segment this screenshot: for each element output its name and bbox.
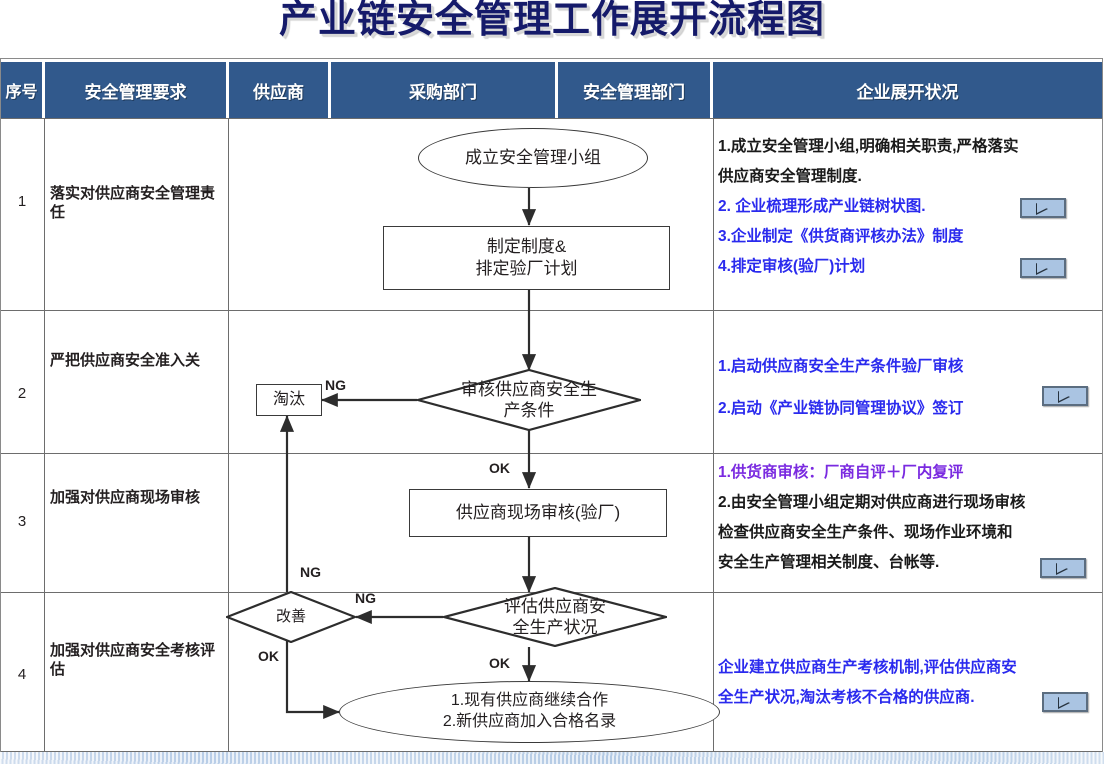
cell-seq-2: 2: [18, 385, 26, 402]
status-line: 2.由安全管理小组定期对供应商进行现场审核: [718, 488, 1100, 518]
cell-requirement-2: 严把供应商安全准入关: [50, 352, 222, 371]
cell-seq-1: 1: [18, 193, 26, 210]
flow-process-onsite-audit-label: 供应商现场审核(验厂): [456, 502, 620, 524]
status-line-text: 全生产状况,淘汰考核不合格的供应商.: [718, 689, 975, 706]
header-cell-supplier: 供应商: [229, 62, 330, 118]
edge-label-ok-1: OK: [489, 460, 510, 476]
row-divider-2: [1, 453, 1102, 454]
status-line: 3.企业制定《供货商评核办法》制度: [718, 222, 1100, 252]
table-row: 4: [0, 666, 44, 683]
play-button[interactable]: [1042, 386, 1088, 406]
status-line: 企业建立供应商生产考核机制,评估供应商安: [718, 653, 1100, 683]
flow-process-policy: 制定制度& 排定验厂计划: [383, 226, 670, 290]
header-label-supplier: 供应商: [253, 78, 304, 103]
header-cell-seq: 序号: [1, 62, 44, 118]
flow-process-policy-line2: 排定验厂计划: [476, 258, 578, 280]
status-line-text: 2.由安全管理小组定期对供应商进行现场审核: [718, 494, 1025, 511]
edge-label-ng-2: NG: [300, 564, 321, 580]
header-cell-status: 企业展开状况: [713, 62, 1102, 118]
status-line-text: 企业建立供应商生产考核机制,评估供应商安: [718, 659, 1017, 676]
edge-label-ok-3: OK: [489, 655, 510, 671]
flow-eliminate-box: 淘汰: [256, 384, 322, 416]
cell-seq-4: 4: [18, 666, 26, 683]
status-line-text: 1.成立安全管理小组,明确相关职责,严格落实: [718, 138, 1019, 155]
play-button[interactable]: [1020, 258, 1066, 278]
page-title: 产业链安全管理工作展开流程图: [0, 0, 1104, 44]
status-line-text: 2.启动《产业链协同管理协议》签订: [718, 400, 963, 417]
flow-end-oval-line1: 1.现有供应商继续合作: [451, 691, 608, 712]
edge-label-ok-2: OK: [258, 648, 279, 664]
status-line: 1.成立安全管理小组,明确相关职责,严格落实: [718, 132, 1100, 162]
cell-seq-3: 3: [18, 513, 26, 530]
footer-decorative-band: [0, 752, 1104, 764]
edge-label-ng-1: NG: [325, 377, 346, 393]
header-label-purchasing: 采购部门: [409, 78, 477, 103]
status-line-text: 3.企业制定《供货商评核办法》制度: [718, 228, 963, 245]
table-row: 1: [0, 193, 44, 210]
flow-start-oval-label: 成立安全管理小组: [465, 147, 601, 169]
status-line-text: 1.供货商审核：厂商自评＋厂内复评: [718, 464, 963, 481]
flow-decision-audit-conditions: 审核供应商安全生 产条件: [417, 369, 641, 431]
column-divider-seq: [44, 118, 45, 752]
flow-eliminate-box-label: 淘汰: [273, 390, 305, 411]
play-button[interactable]: [1020, 198, 1066, 218]
header-label-requirement: 安全管理要求: [85, 78, 187, 103]
play-button[interactable]: [1040, 558, 1086, 578]
flow-start-oval: 成立安全管理小组: [418, 128, 648, 188]
header-cell-requirement: 安全管理要求: [45, 62, 228, 118]
flow-decision-improve: 改善: [226, 591, 356, 643]
header-label-status: 企业展开状况: [857, 78, 959, 103]
status-line: 检查供应商安全生产条件、现场作业环境和: [718, 518, 1100, 548]
cell-requirement-3: 加强对供应商现场审核: [50, 489, 222, 508]
flow-decision-evaluate: 评估供应商安 全生产状况: [443, 587, 667, 647]
row-divider-1: [1, 310, 1102, 311]
status-line: 供应商安全管理制度.: [718, 162, 1100, 192]
play-button[interactable]: [1042, 692, 1088, 712]
flow-end-oval-line2: 2.新供应商加入合格名录: [443, 712, 616, 733]
flow-process-policy-line1: 制定制度&: [487, 236, 566, 258]
cell-requirement-4: 加强对供应商安全考核评估: [50, 642, 222, 680]
table-row: 2: [0, 385, 44, 402]
column-divider-status: [713, 118, 714, 752]
status-line-text: 4.排定审核(验厂)计划: [718, 258, 865, 275]
row-divider-header: [1, 118, 1102, 119]
status-line: 1.供货商审核：厂商自评＋厂内复评: [718, 458, 1100, 488]
table-row: 3: [0, 513, 44, 530]
header-cell-purchasing: 采购部门: [331, 62, 557, 118]
flow-process-onsite-audit: 供应商现场审核(验厂): [409, 489, 667, 537]
edge-label-ng-3: NG: [355, 590, 376, 606]
column-divider-requirement: [228, 118, 229, 752]
cell-requirement-1: 落实对供应商安全管理责任: [50, 185, 222, 223]
status-line: 1.启动供应商安全生产条件验厂审核: [718, 346, 1100, 388]
header-cell-safety-dept: 安全管理部门: [558, 62, 712, 118]
status-line-text: 供应商安全管理制度.: [718, 168, 862, 185]
header-label-seq: 序号: [5, 78, 37, 102]
status-line-text: 检查供应商安全生产条件、现场作业环境和: [718, 524, 1013, 541]
header-label-safety-dept: 安全管理部门: [583, 78, 685, 103]
status-line-text: 安全生产管理相关制度、台帐等.: [718, 554, 939, 571]
table-header-row: 序号 安全管理要求 供应商 采购部门 安全管理部门 企业展开状况: [0, 62, 1104, 118]
status-line-text: 2. 企业梳理形成产业链树状图.: [718, 198, 926, 215]
flow-end-oval: 1.现有供应商继续合作 2.新供应商加入合格名录: [339, 681, 720, 743]
status-line-text: 1.启动供应商安全生产条件验厂审核: [718, 358, 963, 375]
